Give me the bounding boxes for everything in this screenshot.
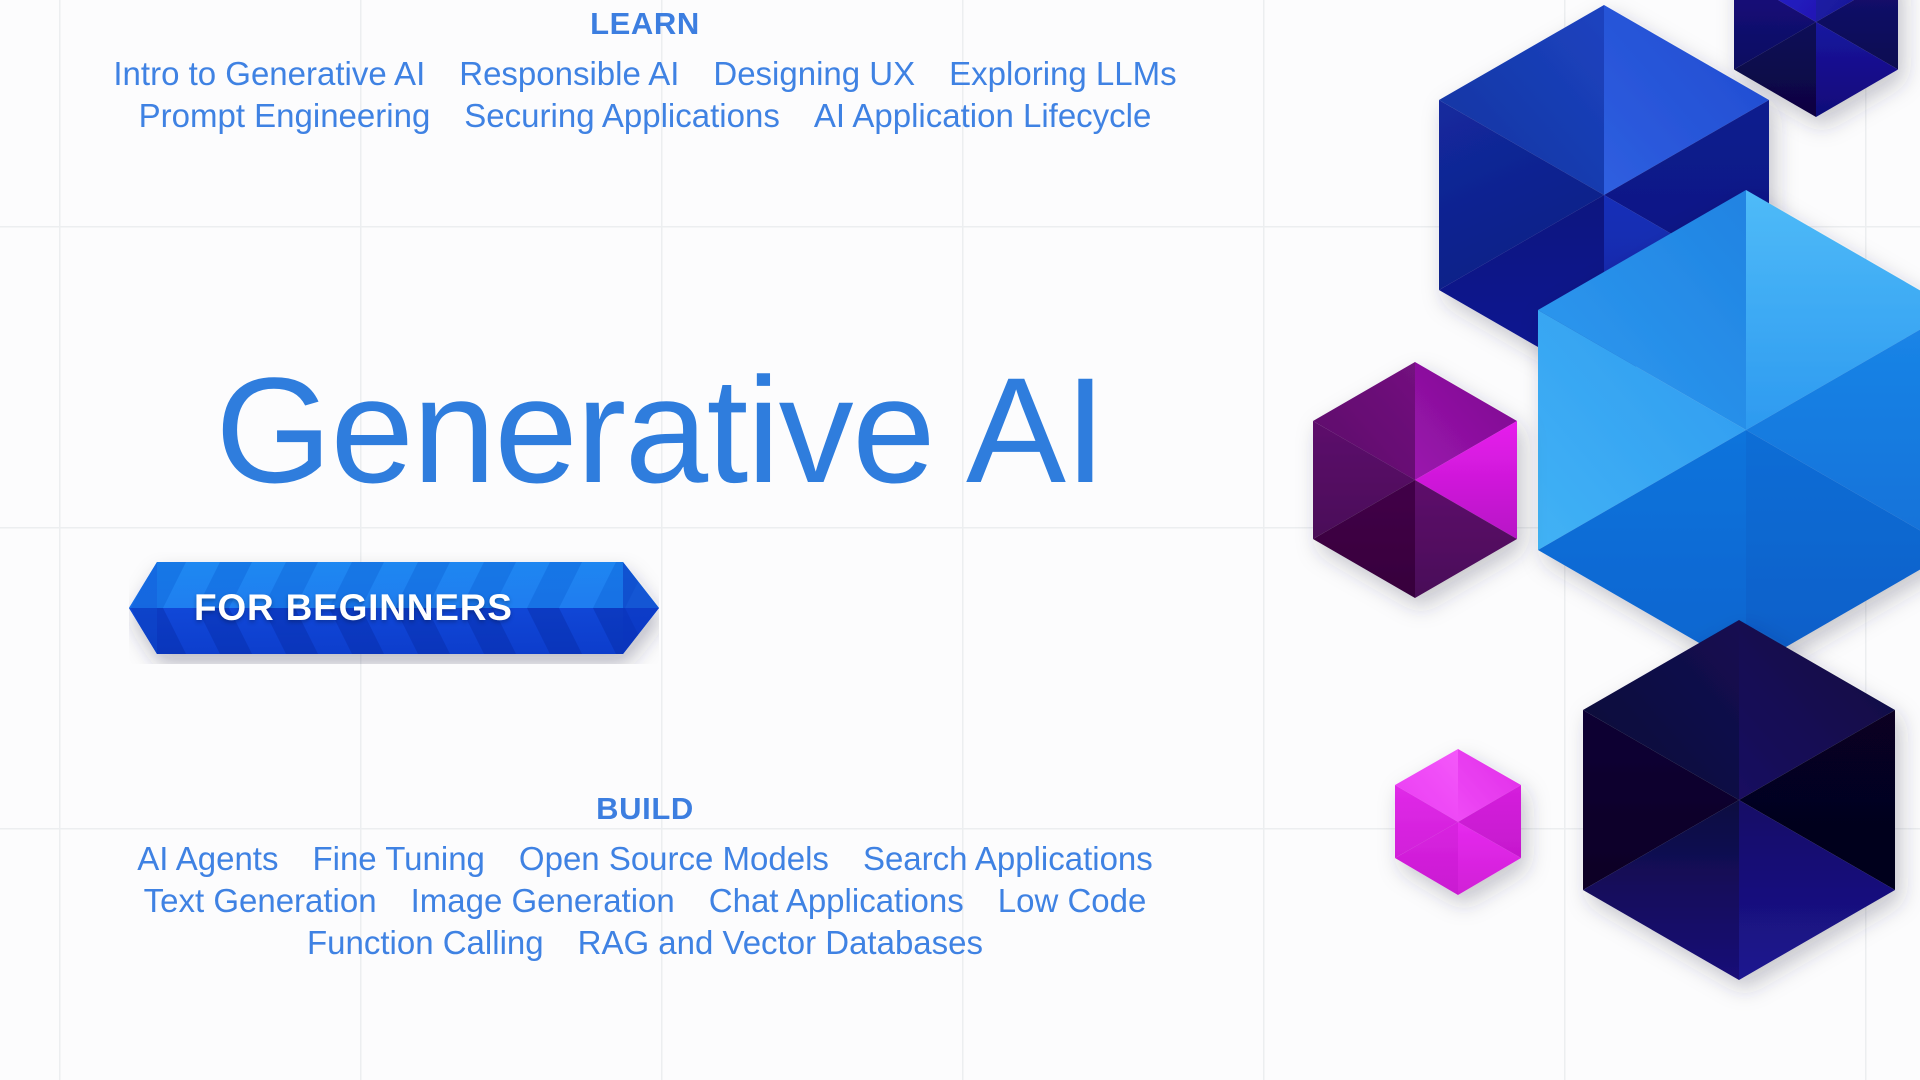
build-link-low-code[interactable]: Low Code [981,880,1164,922]
hexagon-cube-magenta-small [1395,749,1521,895]
learn-link-row-1: Intro to Generative AI Responsible AI De… [0,53,1290,95]
build-link-row-2: Text Generation Image Generation Chat Ap… [0,880,1290,922]
build-link-text-generation[interactable]: Text Generation [127,880,394,922]
learn-link-ai-application-lifecycle[interactable]: AI Application Lifecycle [797,95,1169,137]
hexagon-cube-navy-small-top [1734,0,1898,117]
build-link-search-applications[interactable]: Search Applications [846,838,1170,880]
hexagon-cube-cyan-large [1538,190,1920,670]
hexagon-cube-navy-dark-bottom [1583,620,1895,980]
hero-title-block: Generative AI [0,355,1290,505]
learn-link-exploring-llms[interactable]: Exploring LLMs [932,53,1193,95]
hero-banner: LEARN Intro to Generative AI Responsible… [0,0,1920,1080]
learn-link-row-2: Prompt Engineering Securing Applications… [0,95,1290,137]
build-link-ai-agents[interactable]: AI Agents [120,838,295,880]
build-link-image-generation[interactable]: Image Generation [394,880,692,922]
learn-link-designing-ux[interactable]: Designing UX [696,53,932,95]
build-link-rag-and-vector-databases[interactable]: RAG and Vector Databases [561,922,1000,964]
learn-link-securing-applications[interactable]: Securing Applications [447,95,797,137]
hexagon-cube-blue-large [1439,5,1769,385]
build-section: BUILD AI Agents Fine Tuning Open Source … [0,793,1290,965]
learn-section-title: LEARN [0,8,1290,39]
for-beginners-badge: FOR BEGINNERS [129,552,659,664]
build-section-title: BUILD [0,793,1290,824]
build-link-fine-tuning[interactable]: Fine Tuning [295,838,501,880]
learn-link-responsible-ai[interactable]: Responsible AI [442,53,696,95]
learn-link-intro-to-generative-ai[interactable]: Intro to Generative AI [96,53,442,95]
build-link-chat-applications[interactable]: Chat Applications [692,880,981,922]
build-link-open-source-models[interactable]: Open Source Models [502,838,846,880]
hexagon-cube-purple [1313,362,1517,598]
learn-link-prompt-engineering[interactable]: Prompt Engineering [122,95,448,137]
build-link-row-3: Function Calling RAG and Vector Database… [0,922,1290,964]
build-link-function-calling[interactable]: Function Calling [290,922,561,964]
page-title: Generative AI [0,355,1290,505]
build-link-row-1: AI Agents Fine Tuning Open Source Models… [0,838,1290,880]
learn-section: LEARN Intro to Generative AI Responsible… [0,8,1290,137]
